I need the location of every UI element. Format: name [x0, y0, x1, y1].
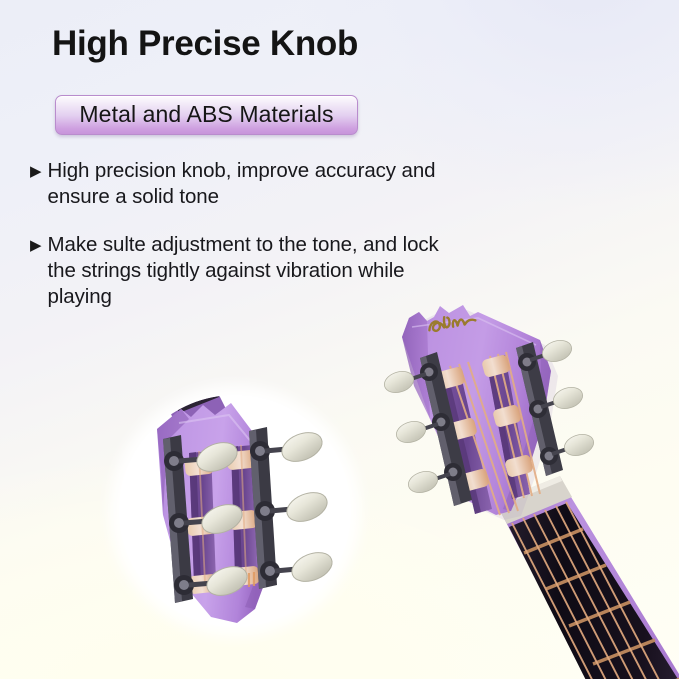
list-item: ▶ Make sulte adjustment to the tone, and… [30, 232, 460, 310]
materials-badge-label: Metal and ABS Materials [79, 101, 333, 128]
materials-badge: Metal and ABS Materials [55, 95, 358, 135]
tuner-buttons-right [540, 337, 597, 459]
tuner-buttons-left [382, 368, 441, 496]
guitar-neck [495, 476, 679, 679]
inset-tuning-machines-right [249, 427, 336, 589]
page-title: High Precise Knob [52, 24, 358, 64]
feature-bullet-list: ▶ High precision knob, improve accuracy … [30, 158, 460, 332]
list-item-text: Make sulte adjustment to the tone, and l… [48, 232, 460, 310]
triangle-bullet-icon: ▶ [30, 159, 42, 185]
product-feature-graphic: High Precise Knob Metal and ABS Material… [0, 0, 679, 679]
list-item-text: High precision knob, improve accuracy an… [48, 158, 460, 210]
tuning-machines-right [516, 337, 596, 476]
tuner-posts-left [436, 366, 490, 492]
headstock-detail-inset [119, 395, 351, 627]
headstock-detail-illustration [119, 395, 351, 627]
headstock-main [402, 305, 558, 520]
tuner-posts-right [481, 354, 534, 478]
triangle-bullet-icon: ▶ [30, 233, 42, 259]
list-item: ▶ High precision knob, improve accuracy … [30, 158, 460, 210]
tuning-machines-left [382, 352, 472, 506]
